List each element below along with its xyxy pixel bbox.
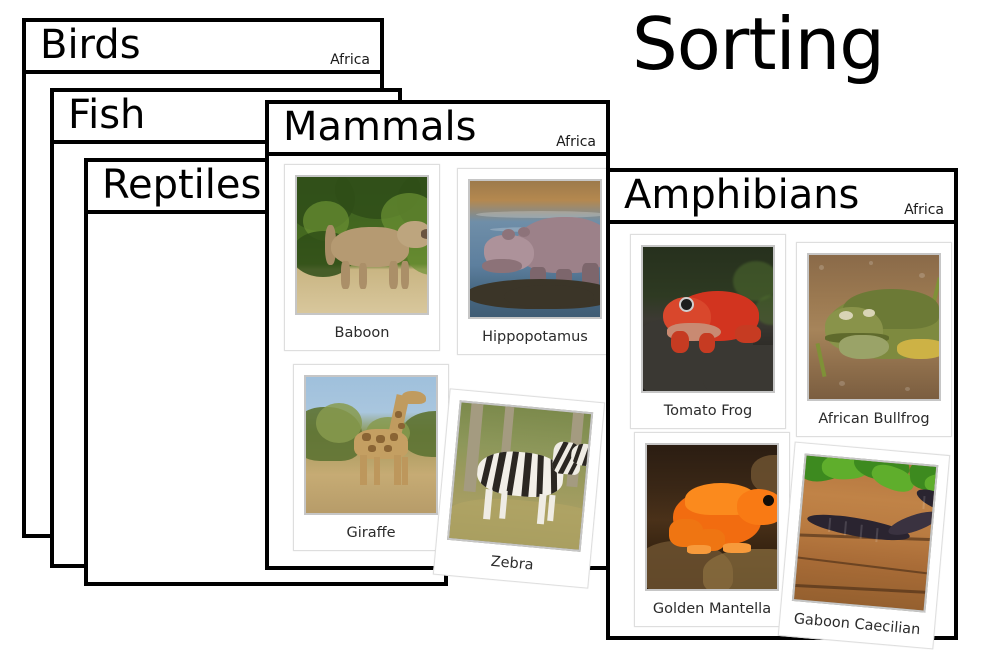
picture-card-label: Hippopotamus bbox=[468, 319, 602, 348]
mat-body-mammals[interactable]: Baboon bbox=[269, 156, 606, 562]
picture-card-label: Tomato Frog bbox=[641, 393, 775, 422]
picture-card-label: African Bullfrog bbox=[807, 401, 941, 430]
page-title: Sorting bbox=[632, 8, 884, 80]
mat-header-amphibians: Amphibians Africa bbox=[610, 172, 954, 224]
picture-card-label: Golden Mantella bbox=[645, 591, 779, 620]
mat-title-birds: Birds bbox=[40, 25, 141, 65]
picture-card-tomato-frog[interactable]: Tomato Frog bbox=[630, 234, 786, 429]
picture-card-hippopotamus[interactable]: Hippopotamus bbox=[457, 168, 613, 355]
picture-card-african-bullfrog[interactable]: African Bullfrog bbox=[796, 242, 952, 437]
picture-card-golden-mantella[interactable]: Golden Mantella bbox=[634, 432, 790, 627]
picture-card-zebra[interactable]: Zebra bbox=[433, 388, 605, 588]
zebra-photo bbox=[447, 400, 593, 552]
mat-header-mammals: Mammals Africa bbox=[269, 104, 606, 156]
golden-mantella-photo bbox=[645, 443, 779, 591]
mat-header-birds: Birds Africa bbox=[26, 22, 380, 74]
african-bullfrog-photo bbox=[807, 253, 941, 401]
mat-region-birds: Africa bbox=[330, 53, 370, 67]
mat-title-fish: Fish bbox=[68, 95, 145, 135]
mat-region-mammals: Africa bbox=[556, 135, 596, 149]
mat-title-reptiles: Reptiles bbox=[102, 165, 261, 205]
sorting-activity-page: Sorting Birds Africa Fish Reptiles Mamma… bbox=[0, 0, 1000, 667]
picture-card-baboon[interactable]: Baboon bbox=[284, 164, 440, 351]
picture-card-giraffe[interactable]: Giraffe bbox=[293, 364, 449, 551]
picture-card-gaboon-caecilian[interactable]: Gaboon Caecilian bbox=[778, 442, 950, 649]
mat-title-amphibians: Amphibians bbox=[624, 175, 859, 215]
mat-region-amphibians: Africa bbox=[904, 203, 944, 217]
hippopotamus-photo bbox=[468, 179, 602, 319]
sorting-mat-mammals[interactable]: Mammals Africa bbox=[265, 100, 610, 570]
baboon-photo bbox=[295, 175, 429, 315]
gaboon-caecilian-photo bbox=[792, 453, 938, 612]
giraffe-photo bbox=[304, 375, 438, 515]
picture-card-label: Giraffe bbox=[304, 515, 438, 544]
sorting-mat-amphibians[interactable]: Amphibians Africa bbox=[606, 168, 958, 640]
tomato-frog-photo bbox=[641, 245, 775, 393]
picture-card-label: Baboon bbox=[295, 315, 429, 344]
mat-body-amphibians[interactable]: Tomato Frog bbox=[610, 224, 954, 632]
mat-title-mammals: Mammals bbox=[283, 107, 476, 147]
